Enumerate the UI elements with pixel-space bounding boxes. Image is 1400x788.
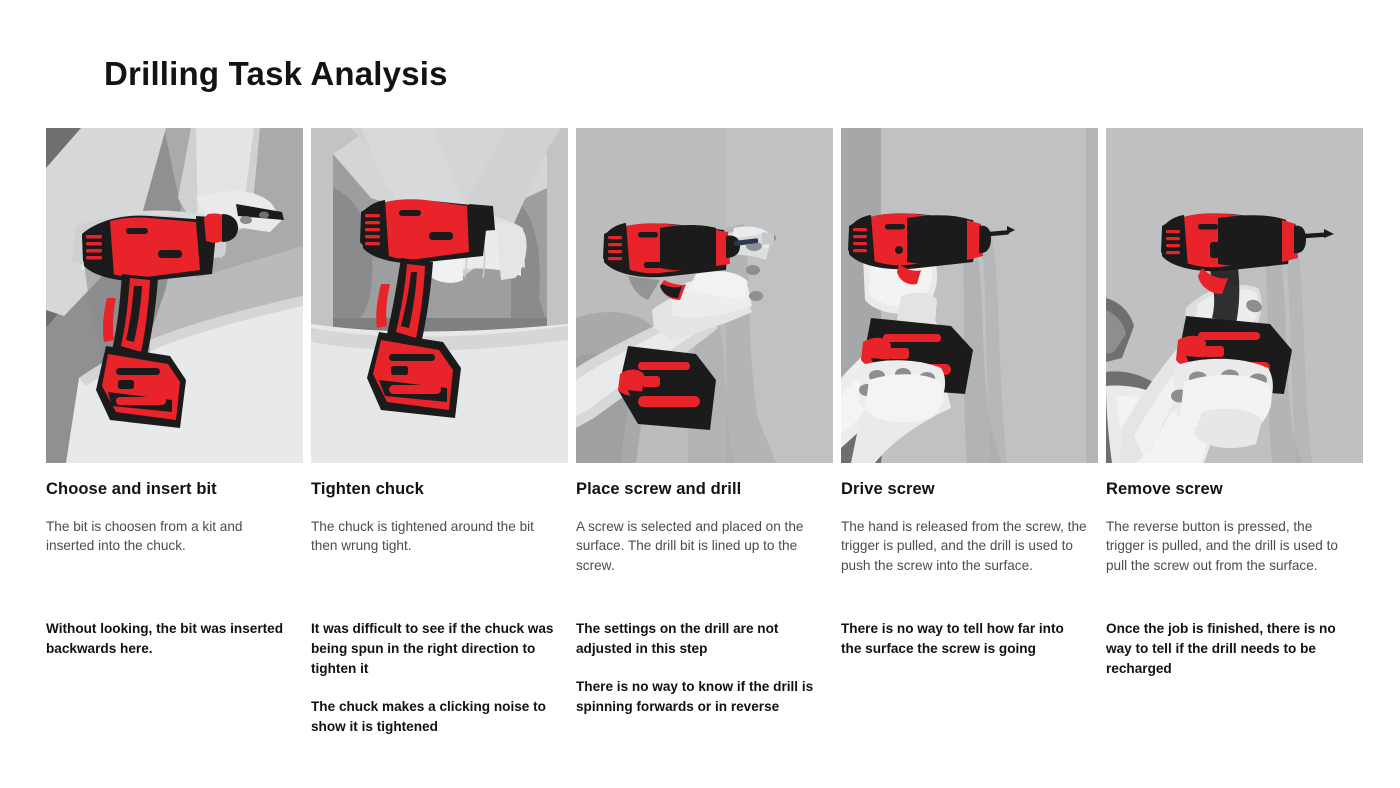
step-desc-block-2: The chuck is tightened around the bit th…: [311, 517, 568, 619]
step-description-2: The chuck is tightened around the bit th…: [311, 517, 557, 556]
step-column-4: Drive screw The hand is released from th…: [841, 128, 1098, 737]
two-hands-tightening-chuck-illustration: [311, 128, 568, 463]
step-title-4: Drive screw: [841, 480, 1098, 500]
step-notes-3: The settings on the drill are not adjust…: [576, 619, 833, 717]
step-note: It was difficult to see if the chuck was…: [311, 619, 557, 679]
step-note: The chuck makes a clicking noise to show…: [311, 697, 557, 737]
step-description-1: The bit is choosen from a kit and insert…: [46, 517, 292, 556]
step-note: Without looking, the bit was inserted ba…: [46, 619, 292, 659]
step-note: The settings on the drill are not adjust…: [576, 619, 822, 659]
step-title-1: Choose and insert bit: [46, 480, 303, 500]
step-image-2: [311, 128, 568, 463]
step-desc-block-1: The bit is choosen from a kit and insert…: [46, 517, 303, 619]
step-column-2: Tighten chuck The chuck is tightened aro…: [311, 128, 568, 737]
step-title-2: Tighten chuck: [311, 480, 568, 500]
step-column-3: Place screw and drill A screw is selecte…: [576, 128, 833, 737]
step-notes-5: Once the job is finished, there is no wa…: [1106, 619, 1363, 679]
step-note: Once the job is finished, there is no wa…: [1106, 619, 1352, 679]
step-image-4: [841, 128, 1098, 463]
step-image-5: [1106, 128, 1363, 463]
hand-holding-drill-and-bit-illustration: [46, 128, 303, 463]
step-notes-1: Without looking, the bit was inserted ba…: [46, 619, 303, 659]
step-title-3: Place screw and drill: [576, 480, 833, 500]
step-desc-block-3: A screw is selected and placed on the su…: [576, 517, 833, 619]
step-column-1: Choose and insert bit The bit is choosen…: [46, 128, 303, 737]
step-description-5: The reverse button is pressed, the trigg…: [1106, 517, 1352, 576]
placing-screw-on-surface-illustration: [576, 128, 833, 463]
step-description-4: The hand is released from the screw, the…: [841, 517, 1087, 576]
step-title-5: Remove screw: [1106, 480, 1363, 500]
step-image-1: [46, 128, 303, 463]
page-title: Drilling Task Analysis: [104, 55, 448, 93]
step-note: There is no way to tell how far into the…: [841, 619, 1087, 659]
step-desc-block-5: The reverse button is pressed, the trigg…: [1106, 517, 1363, 619]
driving-screw-with-drill-illustration: [841, 128, 1098, 463]
step-image-3: [576, 128, 833, 463]
step-notes-4: There is no way to tell how far into the…: [841, 619, 1098, 659]
step-description-3: A screw is selected and placed on the su…: [576, 517, 822, 576]
step-desc-block-4: The hand is released from the screw, the…: [841, 517, 1098, 619]
task-analysis-board: Choose and insert bit The bit is choosen…: [46, 128, 1358, 737]
step-column-5: Remove screw The reverse button is press…: [1106, 128, 1363, 737]
step-notes-2: It was difficult to see if the chuck was…: [311, 619, 568, 737]
removing-screw-with-drill-illustration: [1106, 128, 1363, 463]
step-note: There is no way to know if the drill is …: [576, 677, 822, 717]
